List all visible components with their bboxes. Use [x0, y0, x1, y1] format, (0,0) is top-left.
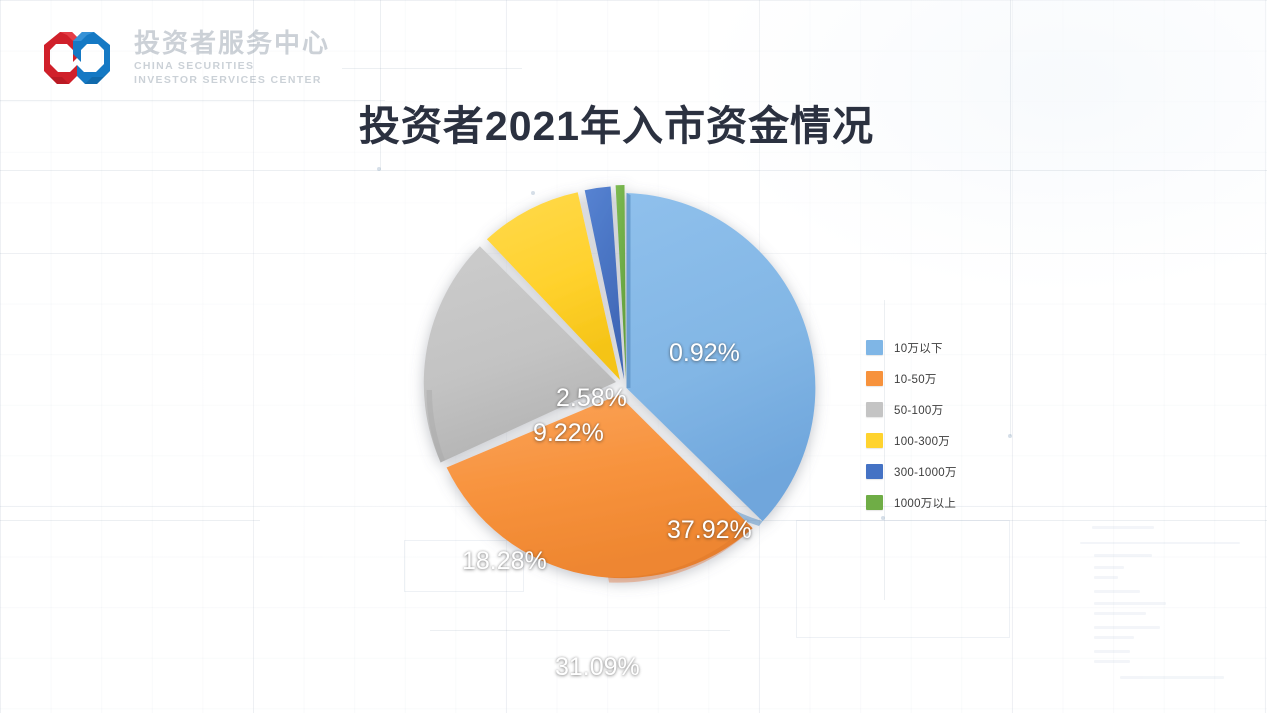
- background-watermark: [1080, 520, 1250, 680]
- chart-title-text: 投资者2021年入市资金情况: [359, 92, 874, 152]
- background-rule: [0, 170, 1267, 171]
- slide-canvas: 投资者服务中心 CHINA SECURITIES INVESTOR SERVIC…: [0, 0, 1267, 713]
- legend-item-10万以下[interactable]: 10万以下: [866, 332, 1016, 363]
- legend-swatch-10-50万: [866, 371, 883, 386]
- background-rule: [342, 68, 522, 69]
- background-rule: [430, 630, 730, 631]
- brand-name-en-line1: CHINA SECURITIES: [134, 60, 364, 73]
- pie-chart-svg: [404, 176, 844, 596]
- chart-title: 投资者2021年入市资金情况: [0, 92, 1267, 152]
- legend-swatch-300-1000万: [866, 464, 883, 479]
- legend-item-1000万以上[interactable]: 1000万以上: [866, 487, 1016, 518]
- brand-logo: 投资者服务中心 CHINA SECURITIES INVESTOR SERVIC…: [42, 24, 342, 92]
- legend-label-100-300万: 100-300万: [894, 433, 950, 449]
- legend-swatch-10万以下: [866, 340, 883, 355]
- legend-swatch-50-100万: [866, 402, 883, 417]
- brand-name-cn: 投资者服务中心: [134, 30, 364, 57]
- legend-label-10-50万: 10-50万: [894, 371, 937, 387]
- pie-label-10-50万: 31.09%: [555, 653, 640, 682]
- legend-item-50-100万[interactable]: 50-100万: [866, 394, 1016, 425]
- legend-item-100-300万[interactable]: 100-300万: [866, 425, 1016, 456]
- brand-wordmark: 投资者服务中心 CHINA SECURITIES INVESTOR SERVIC…: [134, 30, 364, 87]
- legend-swatch-1000万以上: [866, 495, 883, 510]
- legend-item-300-1000万[interactable]: 300-1000万: [866, 456, 1016, 487]
- pie-slices-group: [424, 185, 816, 583]
- background-dot: [377, 167, 381, 171]
- chart-legend: 10万以下 10-50万 50-100万 100-300万 300-1000万 …: [866, 332, 1016, 518]
- pie-chart: 0.92% 2.58% 9.22% 18.28% 37.92% 31.09%: [404, 176, 844, 596]
- legend-label-300-1000万: 300-1000万: [894, 464, 957, 480]
- brand-name-en-line2: INVESTOR SERVICES CENTER: [134, 74, 364, 87]
- csisc-logo-icon: [42, 28, 112, 88]
- legend-label-50-100万: 50-100万: [894, 402, 943, 418]
- background-rule: [0, 520, 260, 521]
- legend-item-10-50万[interactable]: 10-50万: [866, 363, 1016, 394]
- legend-label-1000万以上: 1000万以上: [894, 495, 956, 511]
- legend-swatch-100-300万: [866, 433, 883, 448]
- legend-label-10万以下: 10万以下: [894, 340, 943, 356]
